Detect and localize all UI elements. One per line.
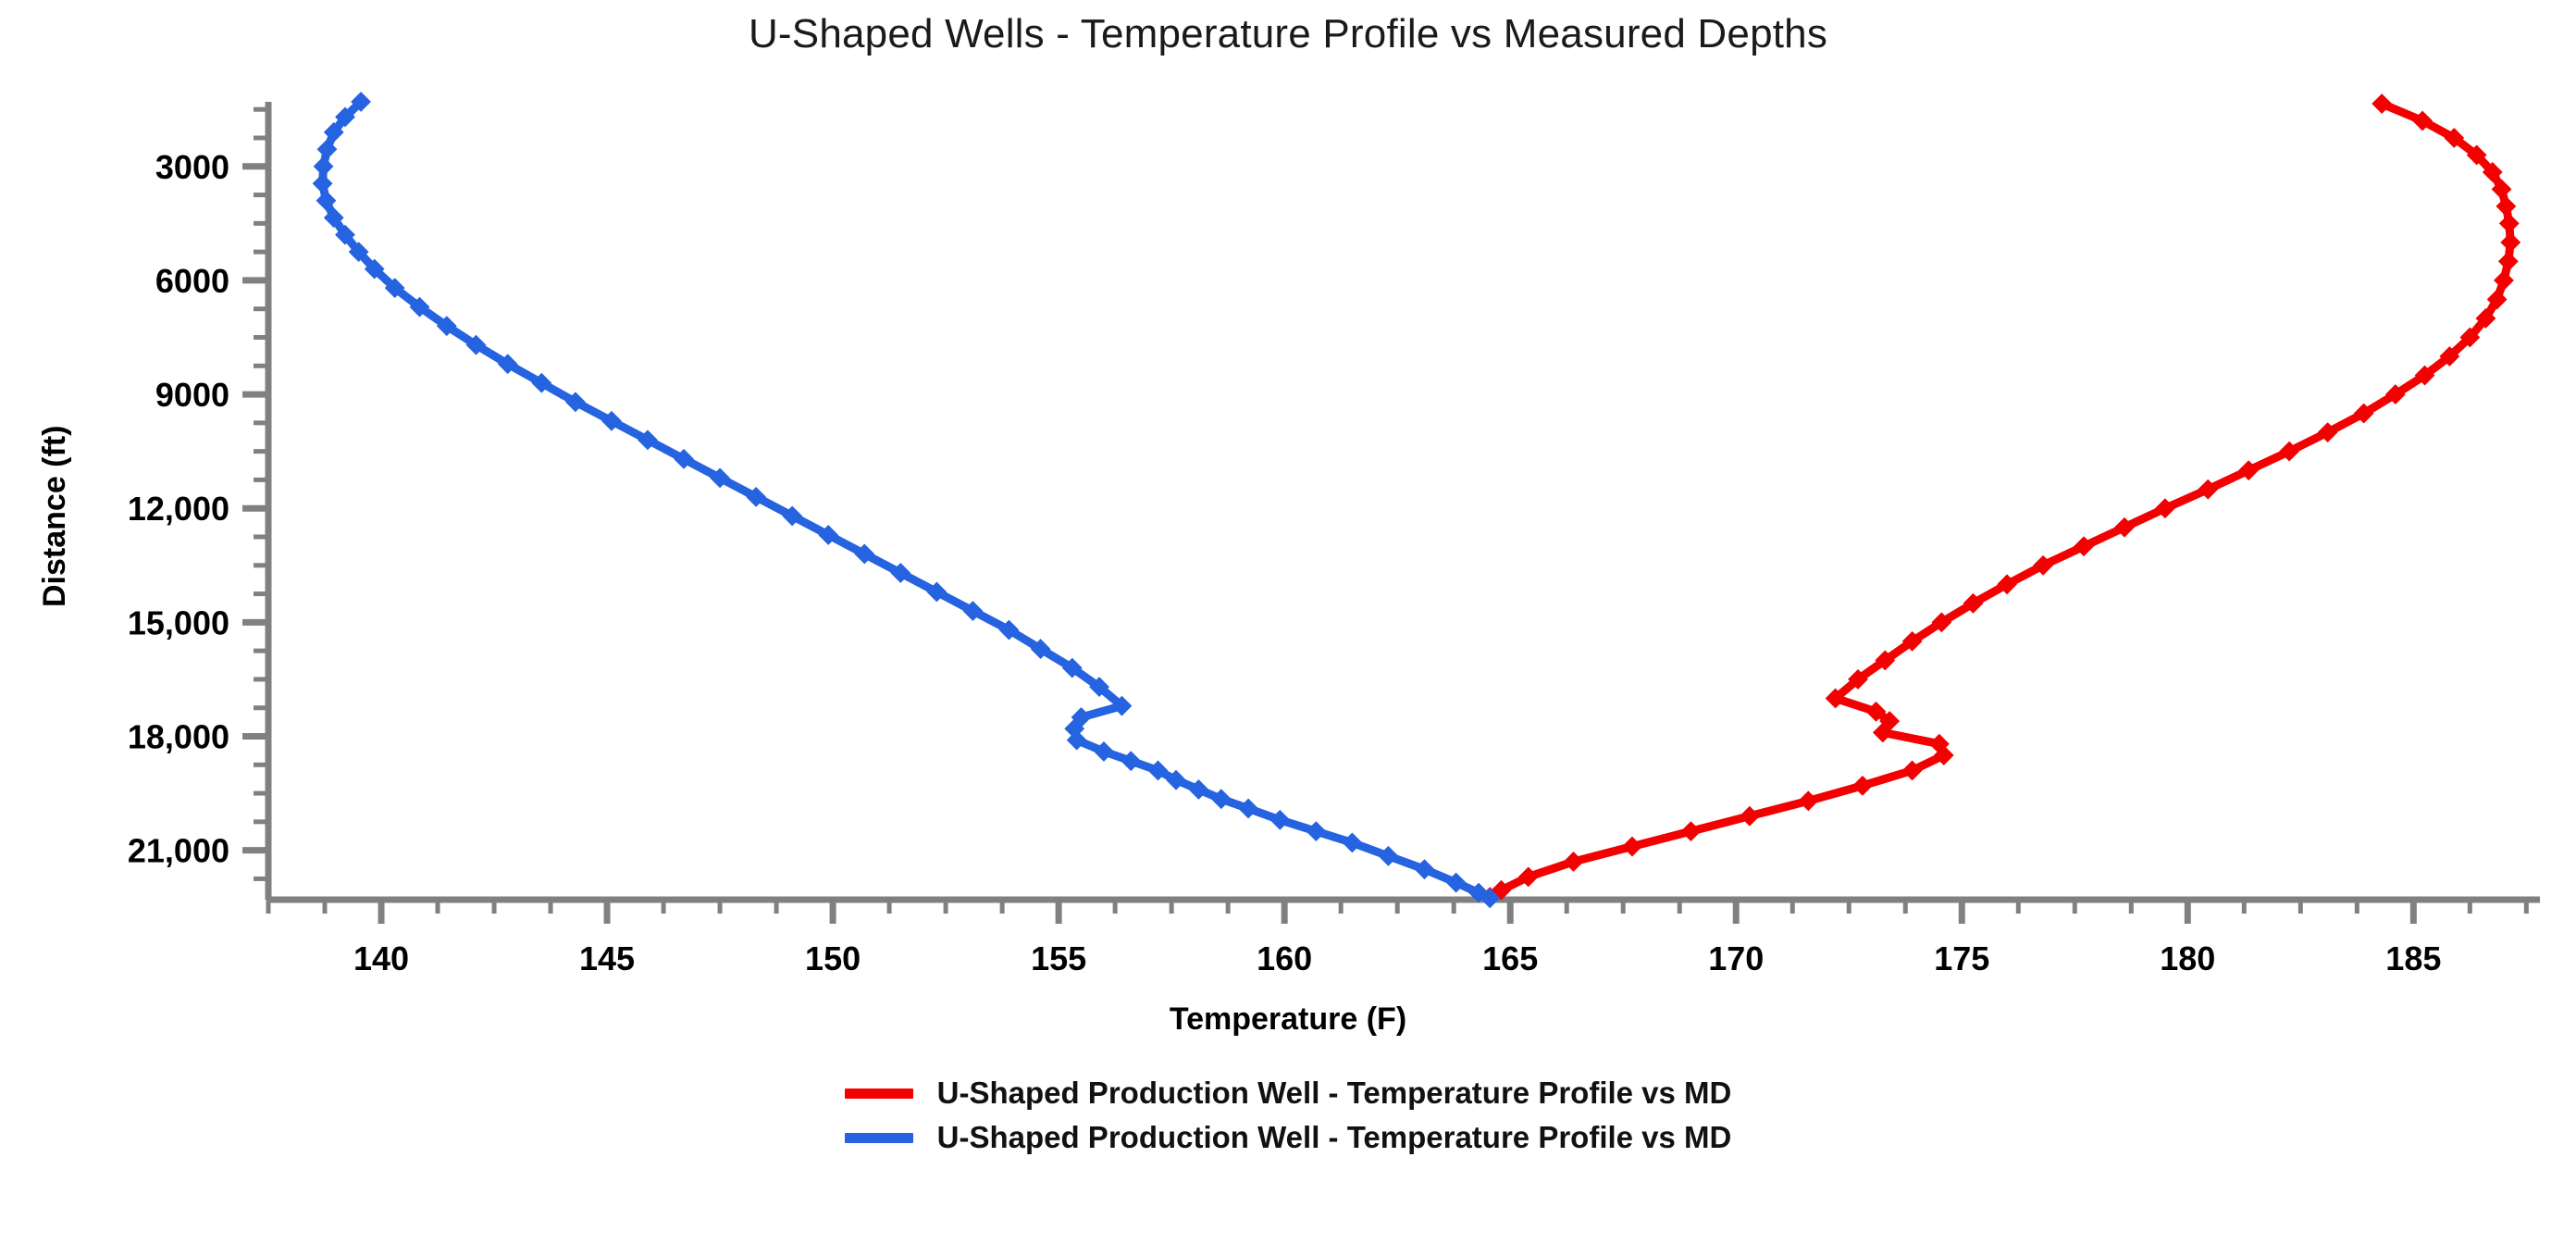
x-tick-label: 185 — [2385, 939, 2441, 977]
x-tick-group: 140145150155160165170175180185 — [268, 900, 2526, 977]
axis-group — [268, 102, 2540, 900]
x-tick-label: 175 — [1934, 939, 1989, 977]
legend-color-swatch — [845, 1088, 913, 1099]
legend-item-1[interactable]: U-Shaped Production Well - Temperature P… — [845, 1076, 1732, 1111]
series-marker — [315, 157, 332, 175]
series-1 — [1481, 95, 2520, 906]
y-tick-group: 30006000900012,00015,00018,00021,000 — [128, 109, 268, 878]
legend-item-2[interactable]: U-Shaped Production Well - Temperature P… — [845, 1120, 1732, 1155]
series-line — [1490, 104, 2510, 897]
x-tick-label: 140 — [353, 939, 409, 977]
y-tick-label: 18,000 — [128, 717, 229, 755]
series-marker — [2499, 253, 2517, 270]
y-tick-label: 15,000 — [128, 603, 229, 641]
y-tick-label: 12,000 — [128, 490, 229, 528]
series-line — [323, 102, 1491, 898]
x-tick-label: 160 — [1257, 939, 1312, 977]
chart-legend: U-Shaped Production Well - Temperature P… — [0, 1076, 2576, 1155]
legend-color-swatch — [845, 1133, 913, 1143]
series-marker — [2497, 197, 2515, 215]
y-tick-label: 21,000 — [128, 832, 229, 870]
x-tick-label: 155 — [1031, 939, 1086, 977]
series-marker — [1740, 807, 1758, 825]
series-marker — [1800, 792, 1817, 810]
x-tick-label: 170 — [1708, 939, 1764, 977]
series-2 — [314, 93, 1499, 907]
series-marker — [2502, 233, 2520, 251]
y-tick-label: 3000 — [155, 148, 229, 186]
legend-item-label: U-Shaped Production Well - Temperature P… — [937, 1076, 1732, 1111]
x-tick-label: 165 — [1482, 939, 1538, 977]
y-tick-label: 9000 — [155, 376, 229, 414]
y-tick-label: 6000 — [155, 262, 229, 300]
x-axis-title: Temperature (F) — [0, 1001, 2576, 1038]
legend-item-label: U-Shaped Production Well - Temperature P… — [937, 1120, 1732, 1155]
x-tick-label: 145 — [579, 939, 635, 977]
x-tick-label: 180 — [2160, 939, 2215, 977]
series-marker — [2500, 215, 2518, 232]
chart-container: U-Shaped Wells - Temperature Profile vs … — [0, 0, 2576, 1244]
y-axis-title: Distance (ft) — [37, 426, 73, 607]
series-marker — [1682, 823, 1700, 840]
plot-area: 1401451501551601651701751801853000600090… — [0, 0, 2576, 1244]
series-marker — [1623, 838, 1641, 855]
series-marker — [314, 175, 331, 193]
x-tick-label: 150 — [805, 939, 861, 977]
